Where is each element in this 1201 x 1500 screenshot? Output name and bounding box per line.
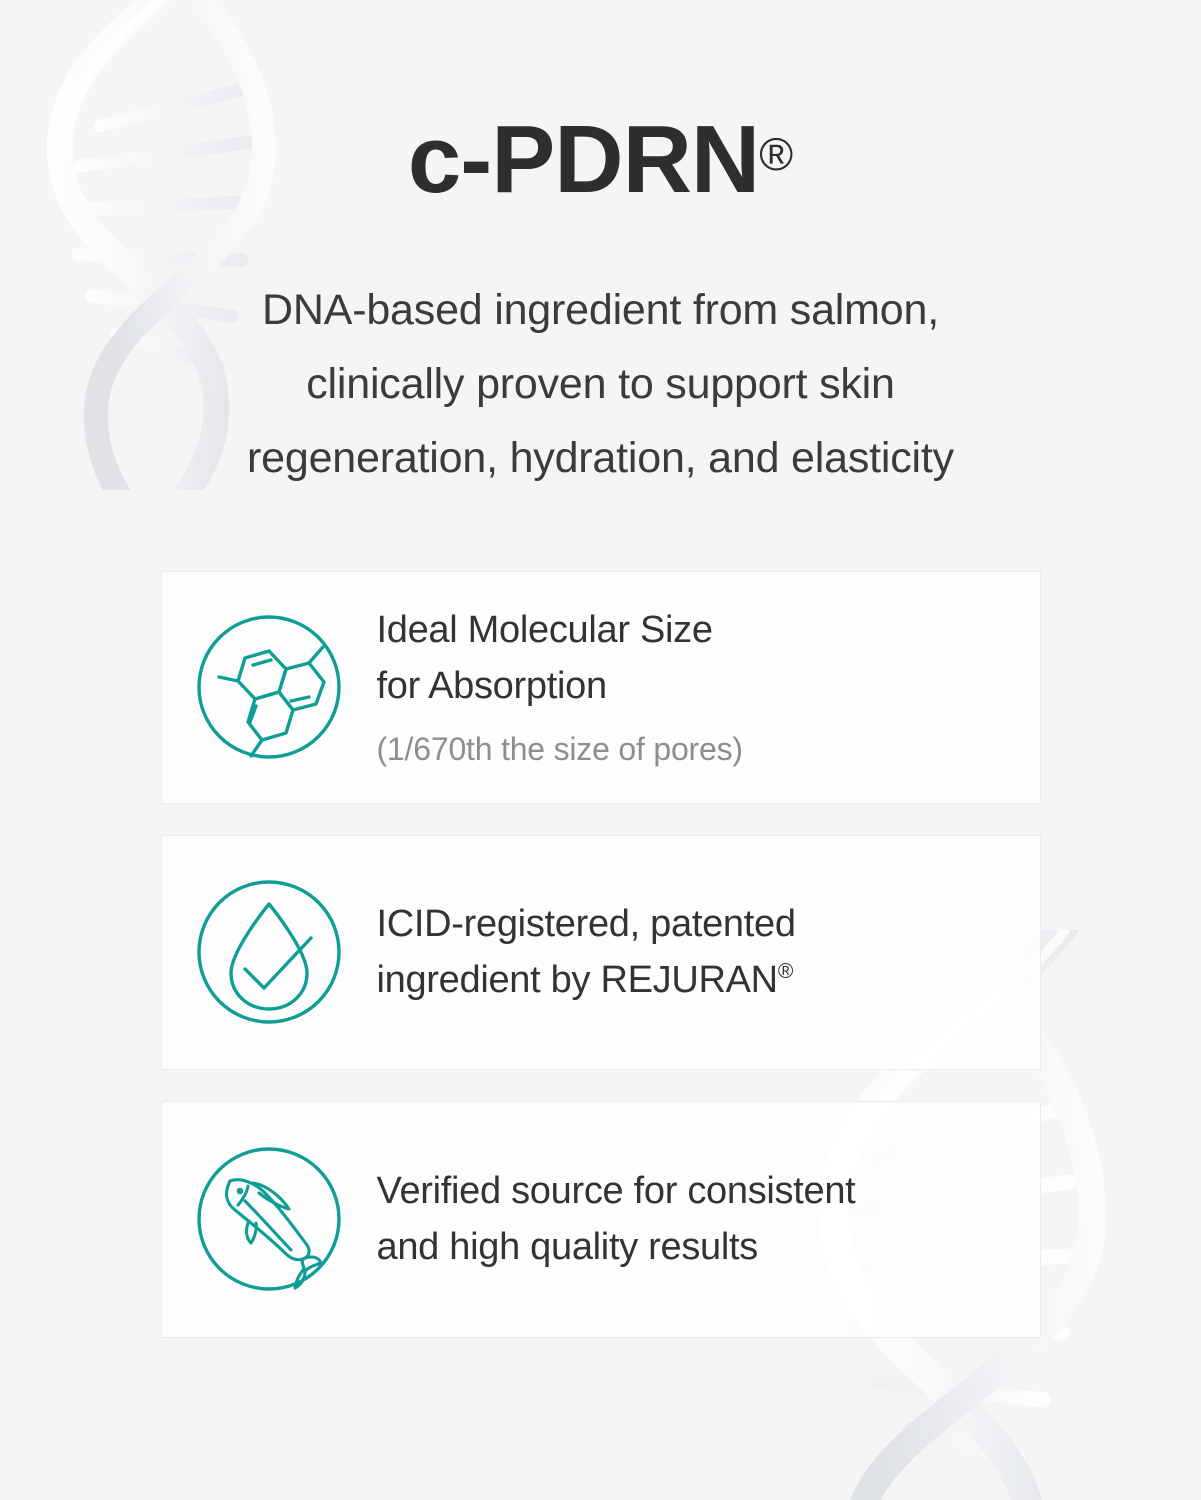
- feature-title-line-1: Verified source for consistent: [377, 1163, 1014, 1219]
- feature-card-verified-source: Verified source for consistent and high …: [161, 1101, 1041, 1338]
- feature-card-icid-registered: ICID-registered, patented ingredient by …: [161, 835, 1041, 1070]
- page-title: c-PDRN®: [0, 0, 1201, 208]
- content-container: c-PDRN® DNA-based ingredient from salmon…: [0, 0, 1201, 1338]
- feature-title-line-2-text: ingredient by REJURAN: [377, 959, 778, 1001]
- feature-icon-slot: [162, 876, 377, 1028]
- feature-title-line-1: Ideal Molecular Size: [377, 602, 1014, 658]
- brand-name: c-PDRN: [408, 106, 759, 213]
- water-drop-check-icon: [193, 876, 345, 1028]
- feature-icon-slot: [162, 1143, 377, 1295]
- tagline-line-1: DNA-based ingredient from salmon,: [0, 274, 1201, 348]
- feature-text-slot: Ideal Molecular Size for Absorption (1/6…: [377, 602, 1040, 773]
- feature-title: ICID-registered, patented ingredient by …: [377, 896, 1014, 1008]
- feature-title-line-2: ingredient by REJURAN®: [377, 952, 1014, 1008]
- feature-text-slot: ICID-registered, patented ingredient by …: [377, 896, 1040, 1008]
- fish-icon: [193, 1143, 345, 1295]
- tagline-line-3: regeneration, hydration, and elasticity: [0, 422, 1201, 496]
- registered-trademark-mark: ®: [759, 128, 793, 180]
- feature-title-line-2: for Absorption: [377, 658, 1014, 714]
- feature-title-line-2: and high quality results: [377, 1219, 1014, 1275]
- molecule-icon: [193, 611, 345, 763]
- feature-subtitle: (1/670th the size of pores): [377, 714, 1014, 772]
- tagline-line-2: clinically proven to support skin: [0, 348, 1201, 422]
- feature-title: Ideal Molecular Size for Absorption: [377, 602, 1014, 714]
- feature-title-line-1: ICID-registered, patented: [377, 896, 1014, 952]
- registered-trademark-mark: ®: [778, 960, 793, 983]
- tagline: DNA-based ingredient from salmon, clinic…: [0, 208, 1201, 496]
- feature-card-list: Ideal Molecular Size for Absorption (1/6…: [161, 496, 1041, 1338]
- feature-card-molecular-size: Ideal Molecular Size for Absorption (1/6…: [161, 571, 1041, 804]
- feature-title: Verified source for consistent and high …: [377, 1163, 1014, 1275]
- feature-text-slot: Verified source for consistent and high …: [377, 1163, 1040, 1275]
- infographic-page: c-PDRN® DNA-based ingredient from salmon…: [0, 0, 1201, 1500]
- feature-icon-slot: [162, 611, 377, 763]
